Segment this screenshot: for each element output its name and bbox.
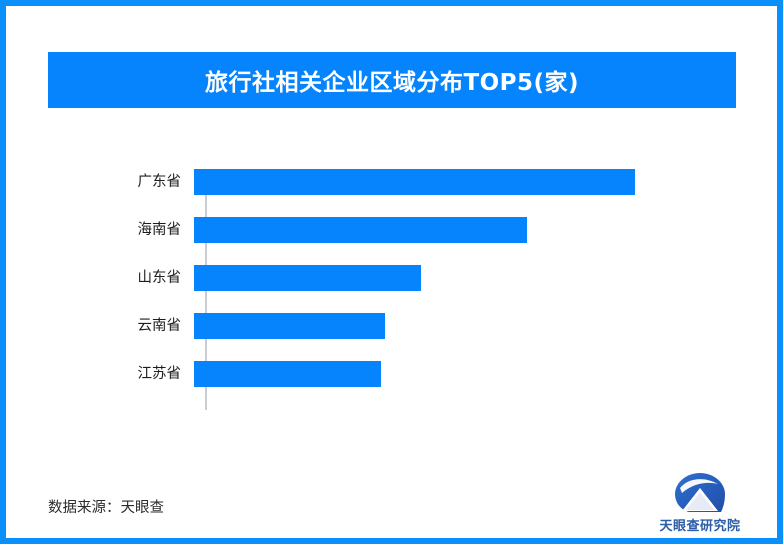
bar-value-shandong[interactable] <box>194 265 421 291</box>
logo: 天眼查研究院 <box>654 472 746 534</box>
bar-label-yunnan: 云南省 <box>48 319 193 334</box>
page-title: 旅行社相关企业区域分布TOP5(家) <box>205 63 579 97</box>
bar-track-4 <box>193 313 748 339</box>
bar-label-hainan: 海南省 <box>48 223 193 238</box>
bar-row-4: 云南省 <box>48 302 748 350</box>
bar-track-2 <box>193 217 748 243</box>
bar-value-yunnan[interactable] <box>194 313 385 339</box>
title-banner: 旅行社相关企业区域分布TOP5(家) <box>48 52 736 108</box>
tianyancha-eye-logo-icon <box>674 472 726 514</box>
bar-row-5: 江苏省 <box>48 350 748 398</box>
bar-track-3 <box>193 265 748 291</box>
bar-value-guangdong[interactable] <box>194 169 635 195</box>
infographic-page: 旅行社相关企业区域分布TOP5(家) 广东省 海南省 山东省 <box>0 0 783 544</box>
bar-row-2: 海南省 <box>48 206 748 254</box>
logo-text: 天眼查研究院 <box>654 515 746 534</box>
bar-label-shandong: 山东省 <box>48 271 193 286</box>
bar-row-3: 山东省 <box>48 254 748 302</box>
bar-rows: 广东省 海南省 山东省 云南省 <box>48 156 748 416</box>
bar-value-hainan[interactable] <box>194 217 527 243</box>
bar-track-5 <box>193 361 748 387</box>
bar-track-1 <box>193 169 748 195</box>
bar-label-guangdong: 广东省 <box>48 175 193 190</box>
bar-value-jiangsu[interactable] <box>194 361 381 387</box>
data-source-note: 数据来源：天眼查 <box>48 496 164 517</box>
bar-chart: 广东省 海南省 山东省 云南省 <box>48 156 748 416</box>
bar-row-1: 广东省 <box>48 158 748 206</box>
bar-label-jiangsu: 江苏省 <box>48 367 193 382</box>
